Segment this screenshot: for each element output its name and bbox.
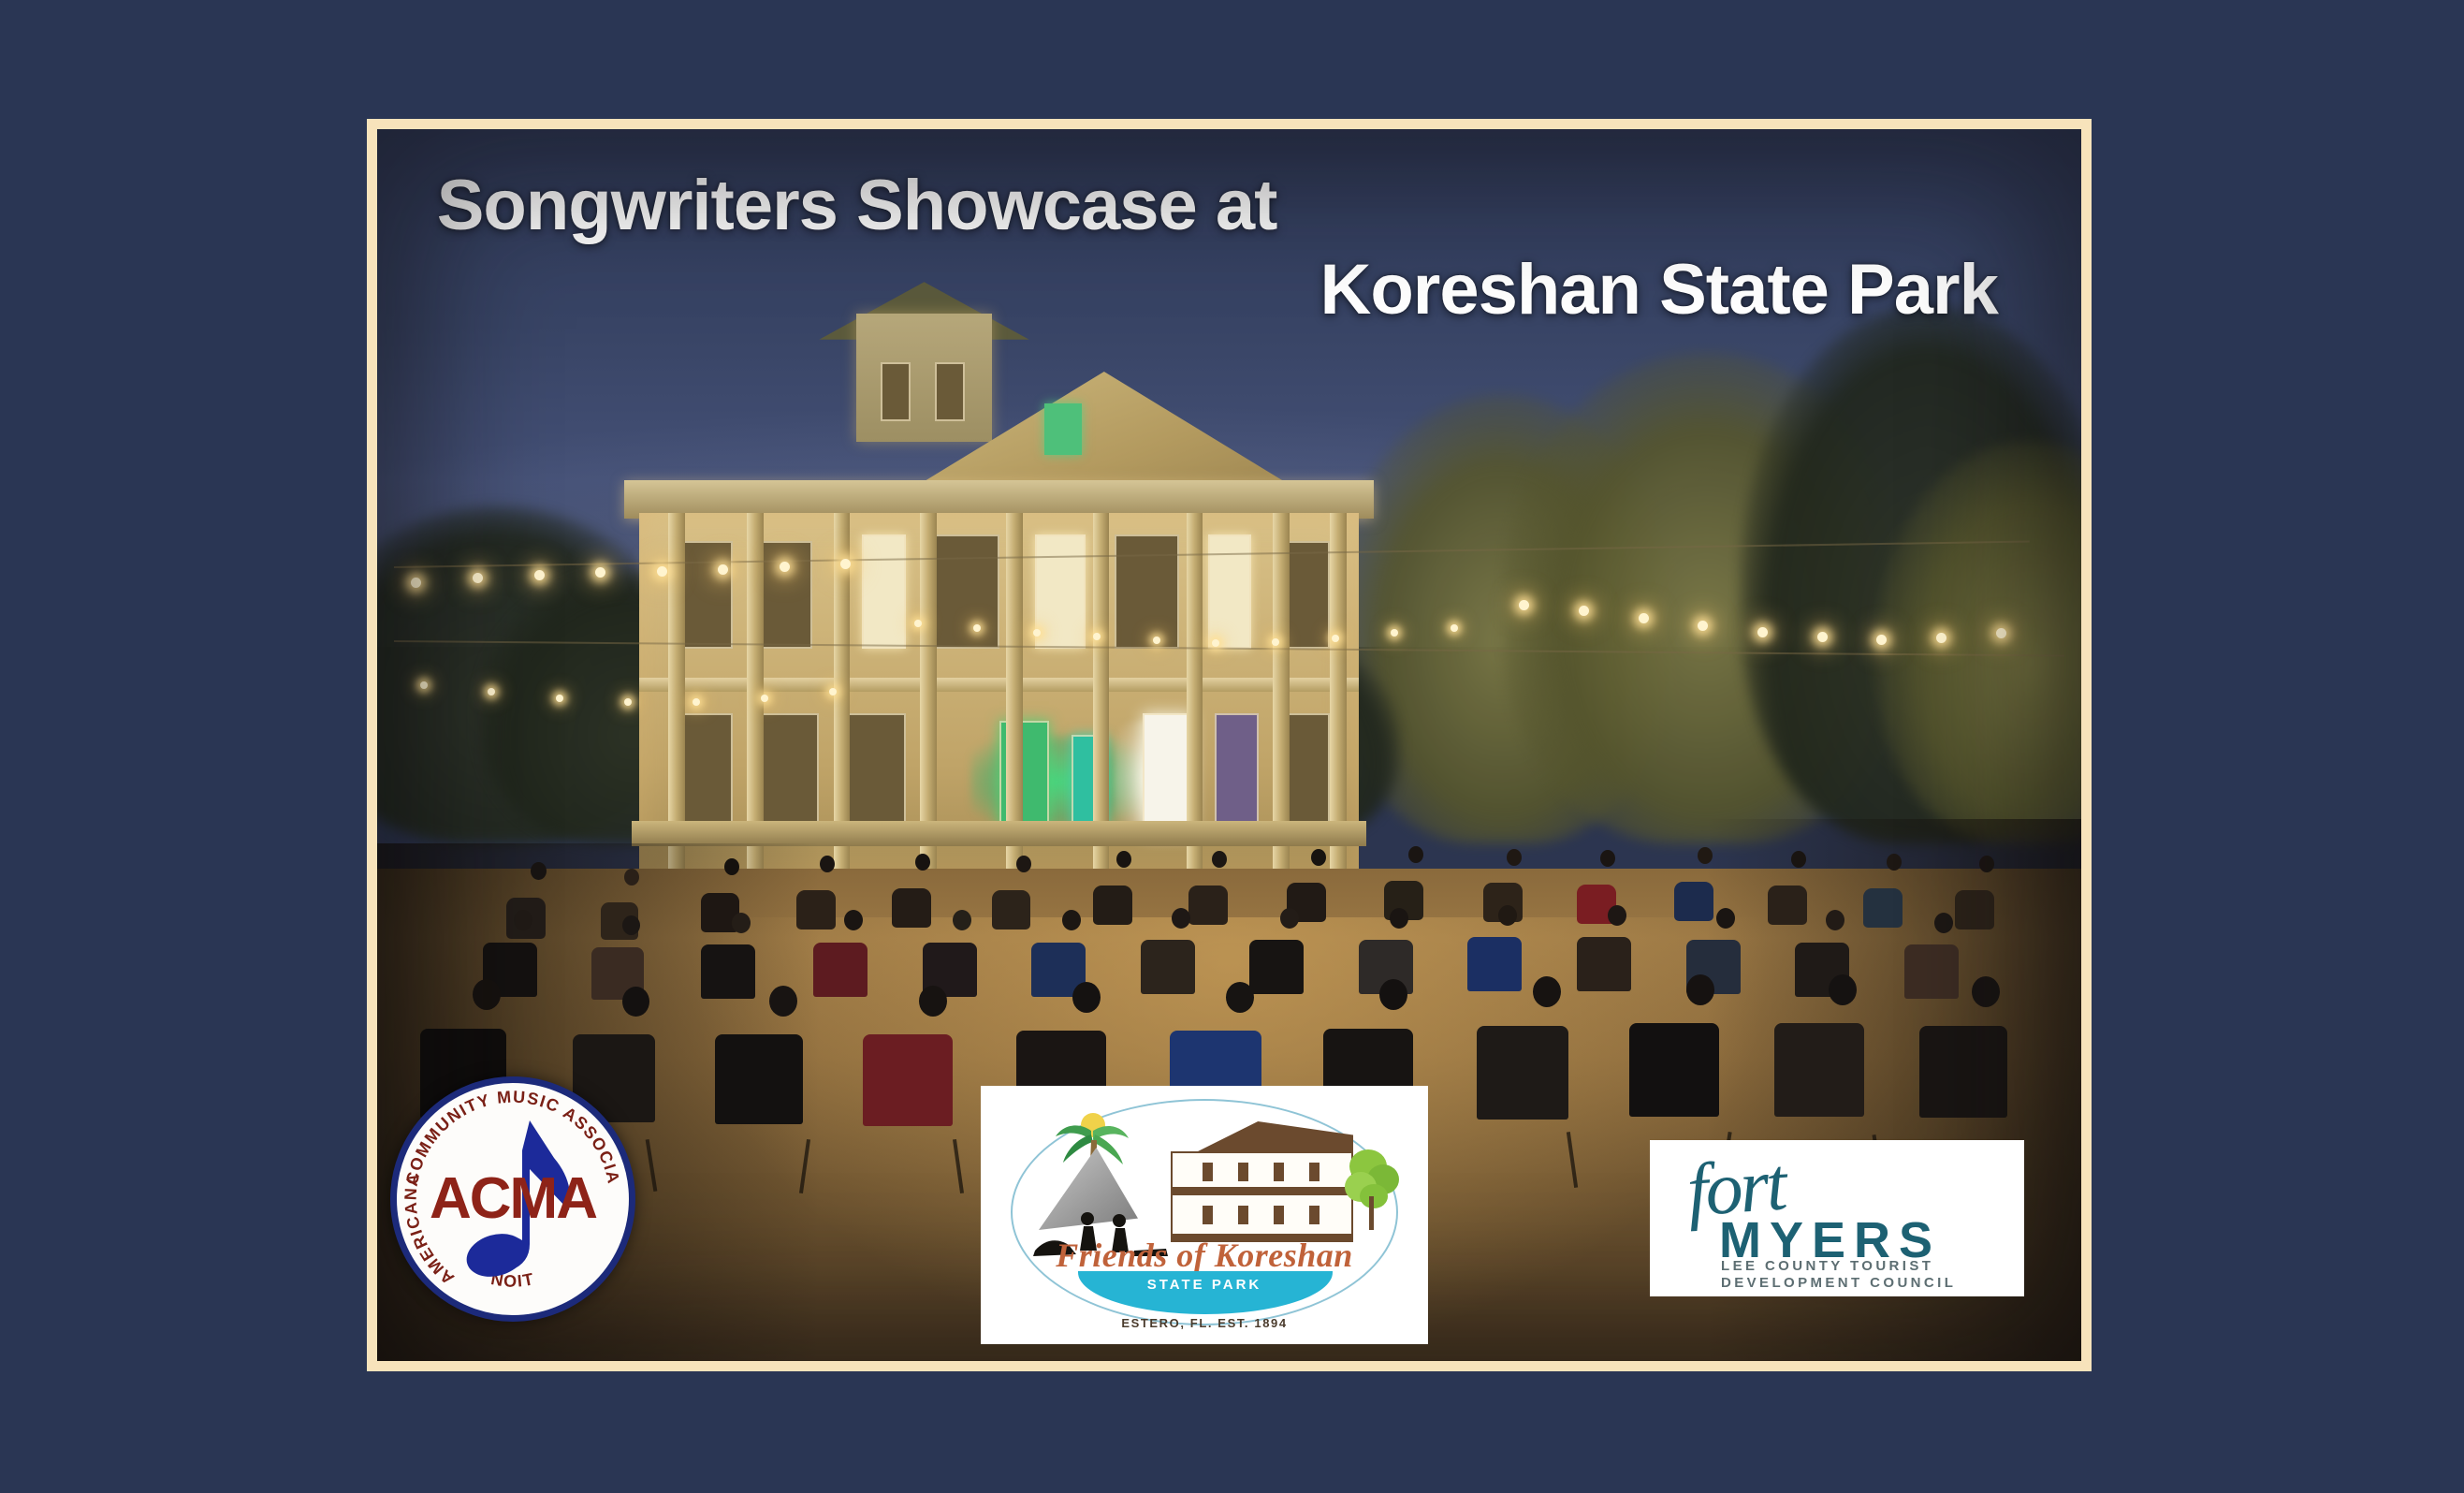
friends-logo-title: Friends of Koreshan <box>981 1236 1428 1275</box>
lawn-chair <box>715 1034 803 1124</box>
audience-member <box>1212 851 1227 868</box>
lawn-chair <box>1919 1026 2007 1118</box>
lawn-chair <box>701 944 755 999</box>
audience-member <box>1311 849 1326 866</box>
shrub-icon <box>1342 1144 1400 1230</box>
friends-of-koreshan-logo[interactable]: Friends of Koreshan STATE PARK ESTERO, F… <box>981 1086 1428 1344</box>
audience-member <box>1116 851 1131 868</box>
audience-member <box>1979 856 1994 872</box>
art-hall-illustration <box>1155 1121 1353 1241</box>
lawn-chair <box>1249 940 1304 994</box>
audience-member <box>531 862 547 880</box>
audience-member <box>1408 846 1423 863</box>
friends-logo-subtitle: STATE PARK <box>981 1277 1428 1293</box>
fort-myers-tagline-2: DEVELOPMENT COUNCIL <box>1721 1275 1956 1291</box>
audience-member <box>820 856 835 872</box>
acma-acronym: ACMA <box>397 1165 629 1232</box>
audience-member <box>1507 849 1522 866</box>
audience-member <box>915 854 930 871</box>
friends-logo-established: ESTERO, FL. EST. 1894 <box>981 1316 1428 1330</box>
audience-member <box>1887 854 1902 871</box>
title-line-2: Koreshan State Park <box>437 248 2022 332</box>
lawn-chair <box>1467 937 1522 991</box>
lawn-chair <box>1577 937 1631 991</box>
poster-frame: Songwriters Showcase at Koreshan State P… <box>367 119 2092 1371</box>
audience-member <box>1016 856 1031 872</box>
lawn-chair <box>863 1034 953 1126</box>
title-line-1: Songwriters Showcase at <box>437 164 2022 248</box>
audience-member <box>624 869 639 886</box>
lawn-chair <box>1904 944 1959 999</box>
fort-myers-tagline-1: LEE COUNTY TOURIST <box>1721 1258 1933 1274</box>
audience-member <box>1600 850 1615 867</box>
event-photo: Songwriters Showcase at Koreshan State P… <box>377 129 2081 1361</box>
lawn-chair <box>1629 1023 1719 1117</box>
lawn-chair <box>1774 1023 1864 1117</box>
lawn-chair <box>1141 940 1195 994</box>
audience-member <box>724 858 739 875</box>
lawn-chair <box>813 943 868 997</box>
poster-title: Songwriters Showcase at Koreshan State P… <box>437 164 2022 331</box>
acma-logo[interactable]: COMMUNITY MUSIC ASSOCIA NOIT AMERICANA A… <box>390 1076 635 1322</box>
audience-member <box>1791 851 1806 868</box>
audience-member <box>1698 847 1713 864</box>
fort-myers-logo[interactable]: fort MYERS LEE COUNTY TOURIST DEVELOPMEN… <box>1650 1140 2024 1296</box>
lawn-chair <box>1477 1026 1568 1120</box>
